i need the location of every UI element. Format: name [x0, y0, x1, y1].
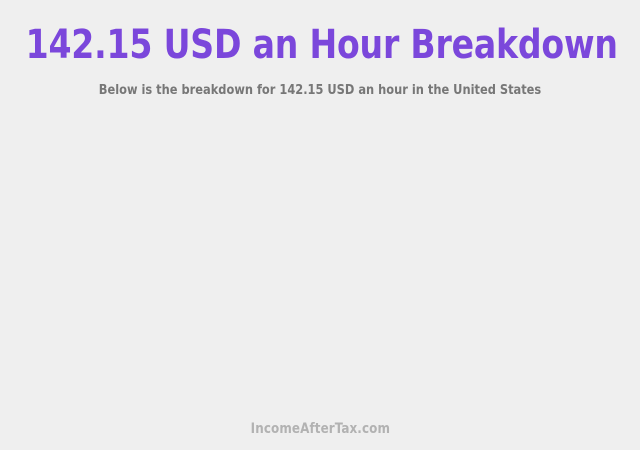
breakdown-chart — [0, 122, 640, 402]
chart-region: Chart area is blank in this screenshot -… — [0, 122, 640, 402]
breakdown-page: 142.15 USD an Hour Breakdown Below is th… — [0, 0, 640, 450]
page-subtitle: Below is the breakdown for 142.15 USD an… — [19, 82, 621, 99]
page-title: 142.15 USD an Hour Breakdown — [26, 22, 615, 68]
page-footer: IncomeAfterTax.com — [0, 420, 640, 438]
site-brand-label: IncomeAfterTax.com — [250, 420, 389, 438]
page-header: 142.15 USD an Hour Breakdown Below is th… — [0, 0, 640, 99]
